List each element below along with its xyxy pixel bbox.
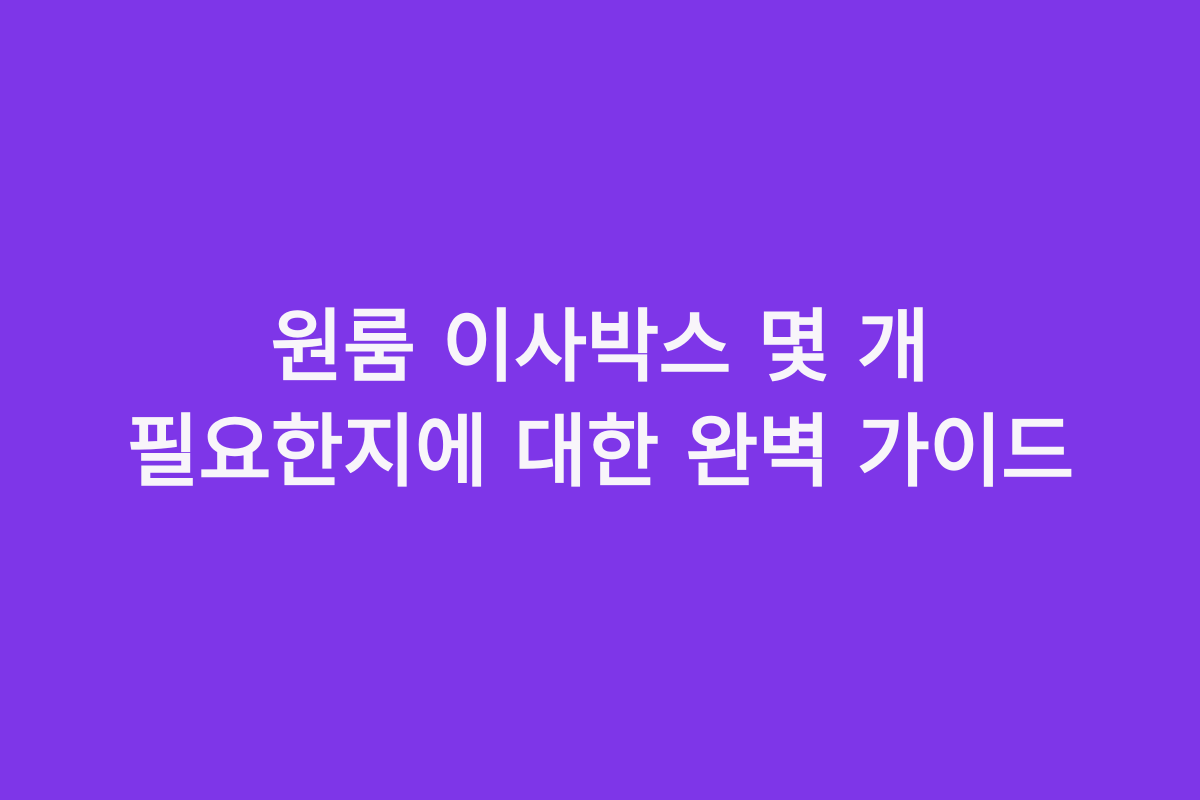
banner-container: 원룸 이사박스 몇 개 필요한지에 대한 완벽 가이드 xyxy=(0,0,1200,800)
title-line-1: 원룸 이사박스 몇 개 xyxy=(10,295,1190,400)
title-line-2: 필요한지에 대한 완벽 가이드 xyxy=(10,400,1190,505)
page-title: 원룸 이사박스 몇 개 필요한지에 대한 완벽 가이드 xyxy=(0,295,1200,505)
